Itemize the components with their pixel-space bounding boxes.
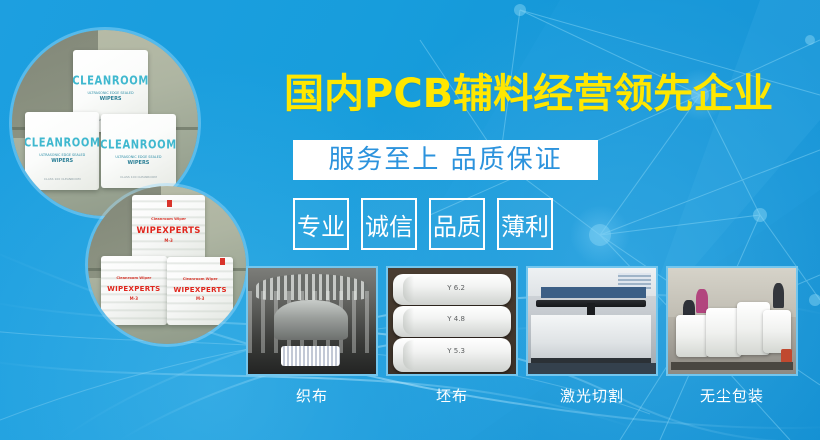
- pack-subline-2: WIPERS: [100, 96, 122, 102]
- wipe-pack: CLEANROOM ULTRASONIC EDGE SEALED WIPERS …: [25, 112, 99, 190]
- roll-mark: Y 5.3: [447, 347, 465, 355]
- carton-code-label: M-3: [167, 296, 233, 301]
- process-caption-greige-fabric: 坯布: [436, 385, 468, 406]
- carton-top-line: Cleanroom Wiper: [167, 277, 233, 281]
- process-photo-weaving: [246, 266, 378, 376]
- process-photo-greige-fabric: Y 6.2 Y 4.8 Y 5.3: [386, 266, 518, 376]
- process-item-greige-fabric: Y 6.2 Y 4.8 Y 5.3 坯布: [386, 266, 518, 406]
- roll-mark: Y 4.8: [447, 315, 465, 323]
- roll-mark: Y 6.2: [447, 284, 465, 292]
- pack-subline-1: ULTRASONIC EDGE SEALED: [87, 91, 133, 95]
- process-photo-strip: 织布 Y 6.2 Y 4.8 Y 5.3 坯布 激光切割: [246, 266, 798, 406]
- process-photo-cleanroom-packing: [666, 266, 798, 376]
- pack-subline-2: WIPERS: [51, 158, 73, 164]
- wipe-pack: CLEANROOM ULTRASONIC EDGE SEALED WIPERS …: [101, 114, 175, 188]
- process-item-weaving: 织布: [246, 266, 378, 406]
- feature-tag-quality: 品质: [429, 198, 485, 250]
- carton-brand-label: WIPEXPERTS: [132, 226, 205, 236]
- carton-code-label: M-3: [101, 296, 167, 301]
- wipexperts-carton: Cleanroom Wiper WIPEXPERTS M-3: [167, 257, 233, 325]
- process-photo-laser-cutting: [526, 266, 658, 376]
- process-caption-cleanroom-packing: 无尘包装: [700, 385, 764, 406]
- subtitle-banner: 服务至上 品质保证: [293, 140, 598, 180]
- pack-brand-label: CLEANROOM: [25, 136, 99, 150]
- banner-headline: 国内PCB辅料经营领先企业: [284, 74, 773, 114]
- promo-banner: CLEANROOM ULTRASONIC EDGE SEALED WIPERS …: [0, 0, 820, 440]
- subtitle-text: 服务至上 品质保证: [328, 147, 562, 173]
- feature-tag-low-margin: 薄利: [497, 198, 553, 250]
- product-photo-wipexperts-cartons: Cleanroom Wiper WIPEXPERTS M-3 Cleanroom…: [88, 186, 246, 344]
- feature-tag-list: 专业 诚信 品质 薄利: [293, 198, 553, 250]
- pack-subline-2: WIPERS: [128, 160, 150, 166]
- pack-brand-label: CLEANROOM: [73, 75, 147, 89]
- process-caption-weaving: 织布: [296, 385, 328, 406]
- pack-subline-1: ULTRASONIC EDGE SEALED: [39, 153, 85, 157]
- feature-tag-professional: 专业: [293, 198, 349, 250]
- carton-top-line: Cleanroom Wiper: [132, 217, 205, 221]
- pack-subline-1: ULTRASONIC EDGE SEALED: [115, 155, 161, 159]
- process-item-laser-cutting: 激光切割: [526, 266, 658, 406]
- carton-brand-label: WIPEXPERTS: [101, 285, 167, 293]
- carton-code-label: M-3: [132, 238, 205, 243]
- pack-brand-label: CLEANROOM: [101, 138, 175, 152]
- pack-footline: CLASS 100 CLEANROOM: [120, 175, 157, 179]
- wipexperts-carton: Cleanroom Wiper WIPEXPERTS M-3: [101, 256, 167, 326]
- feature-tag-integrity: 诚信: [361, 198, 417, 250]
- process-item-cleanroom-packing: 无尘包装: [666, 266, 798, 406]
- carton-brand-label: WIPEXPERTS: [167, 286, 233, 294]
- pack-footline: CLASS 100 CLEANROOM: [44, 177, 81, 181]
- carton-top-line: Cleanroom Wiper: [101, 276, 167, 280]
- process-caption-laser-cutting: 激光切割: [560, 385, 624, 406]
